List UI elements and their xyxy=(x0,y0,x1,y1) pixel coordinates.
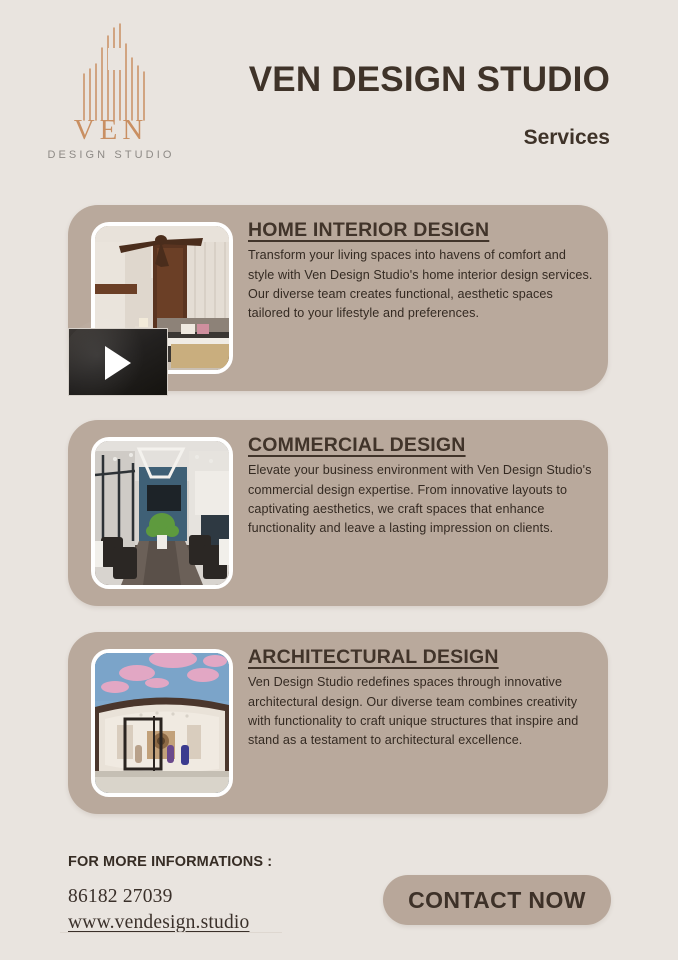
card-description: Elevate your business environment with V… xyxy=(248,461,594,538)
card-description: Transform your living spaces into havens… xyxy=(248,246,594,323)
service-card-commercial[interactable]: COMMERCIAL DESIGN Elevate your business … xyxy=(68,420,608,606)
storefront-exterior-photo xyxy=(91,649,233,797)
footer-website-link[interactable]: www.vendesign.studio xyxy=(68,912,249,934)
footer-heading: FOR MORE INFORMATIONS : xyxy=(68,854,272,870)
logo-subtitle: DESIGN STUDIO xyxy=(36,150,186,161)
contact-now-button[interactable]: CONTACT NOW xyxy=(383,875,611,925)
logo[interactable]: VEN DESIGN STUDIO xyxy=(36,22,186,172)
logo-wordmark: VEN xyxy=(36,116,186,145)
card-title: HOME INTERIOR DESIGN xyxy=(248,218,594,242)
page-subtitle: Services xyxy=(524,126,610,150)
building-tower-icon xyxy=(54,22,172,122)
card-title: ARCHITECTURAL DESIGN xyxy=(248,645,594,669)
service-card-architectural[interactable]: ARCHITECTURAL DESIGN Ven Design Studio r… xyxy=(68,632,608,814)
play-triangle-icon xyxy=(61,319,151,409)
bottom-edge-artifact-2 xyxy=(196,932,282,933)
conference-room-photo xyxy=(91,437,233,589)
card-body: COMMERCIAL DESIGN Elevate your business … xyxy=(248,433,594,538)
page-header: VEN DESIGN STUDIO VEN DESIGN STUDIO Serv… xyxy=(0,0,678,190)
card-body: ARCHITECTURAL DESIGN Ven Design Studio r… xyxy=(248,645,594,750)
card-body: HOME INTERIOR DESIGN Transform your livi… xyxy=(248,218,594,323)
footer-phone[interactable]: 86182 27039 xyxy=(68,886,173,908)
page-title: VEN DESIGN STUDIO xyxy=(249,60,610,100)
card-description: Ven Design Studio redefines spaces throu… xyxy=(248,673,594,750)
card-title: COMMERCIAL DESIGN xyxy=(248,433,594,457)
video-player-overlay[interactable] xyxy=(68,328,168,396)
poster-page: VEN DESIGN STUDIO VEN DESIGN STUDIO Serv… xyxy=(0,0,678,960)
